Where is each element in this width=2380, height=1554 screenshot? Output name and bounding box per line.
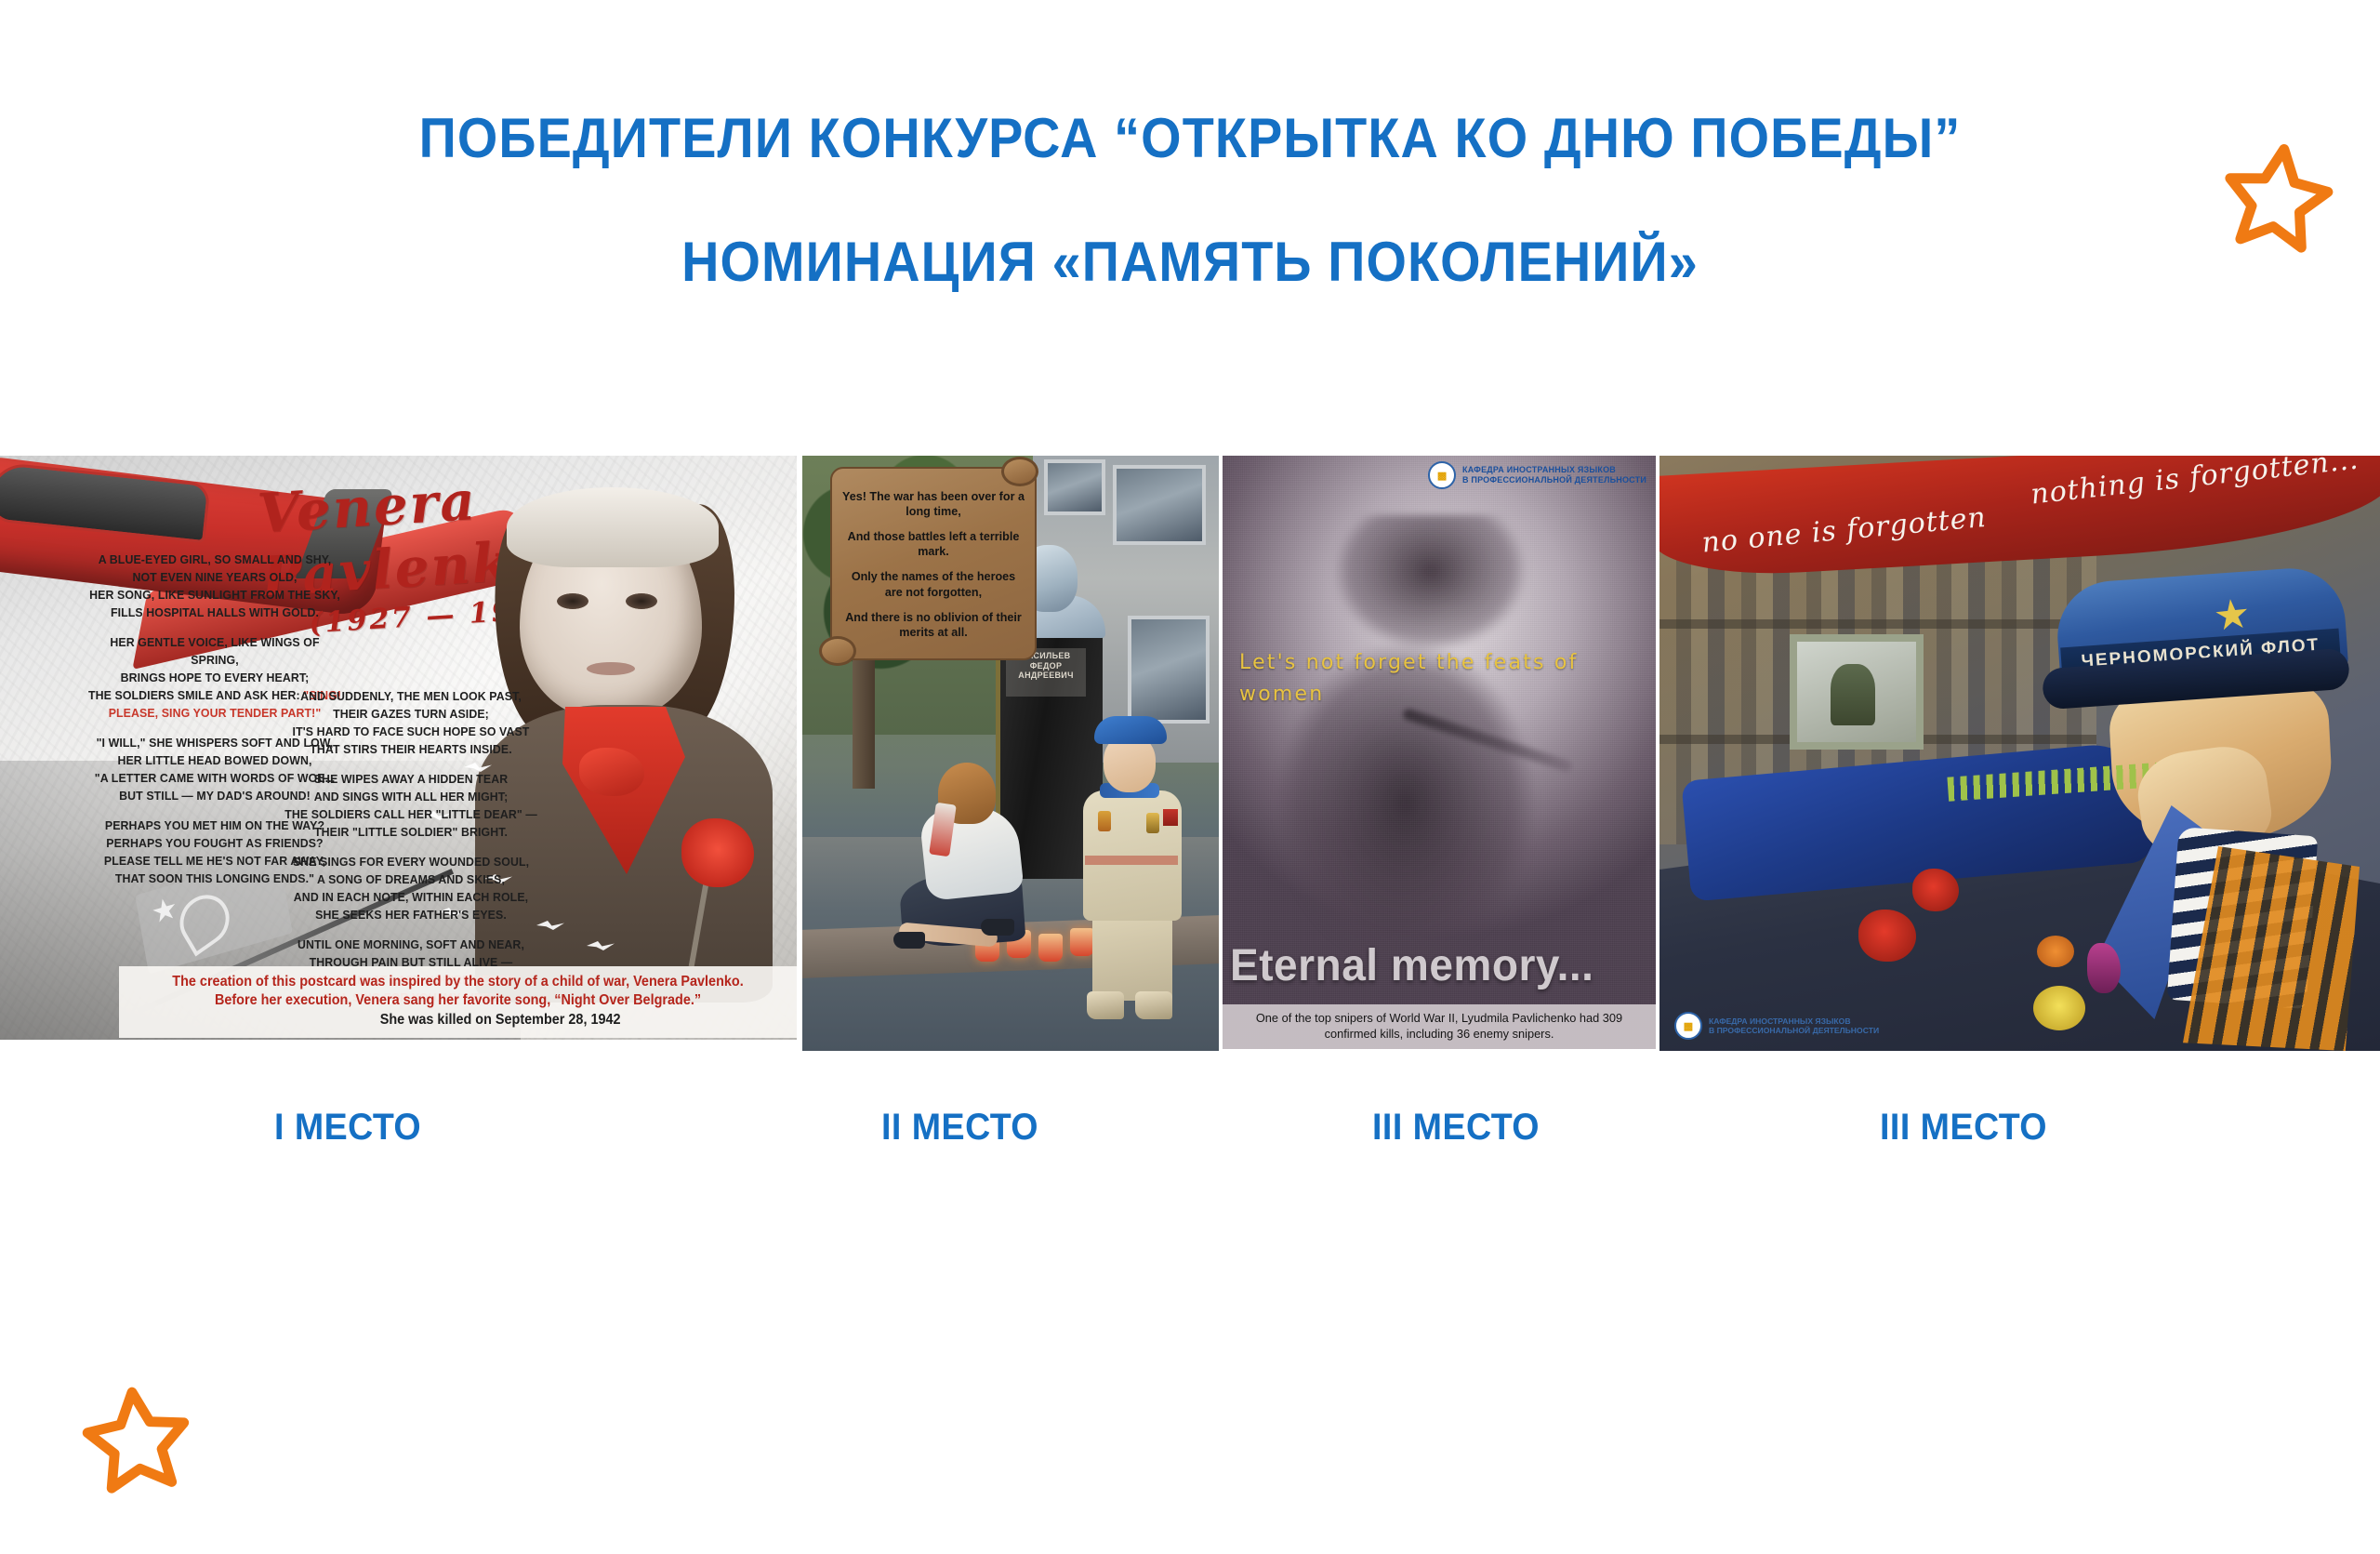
logo-line-1: КАФЕДРА ИНОСТРАННЫХ ЯЗЫКОВ bbox=[1709, 1016, 1851, 1026]
logo-line-2: В ПРОФЕССИОНАЛЬНОЙ ДЕЯТЕЛЬНОСТИ bbox=[1462, 475, 1646, 485]
postcard-4[interactable]: no one is forgotten nothing is forgotten… bbox=[1659, 456, 2380, 1051]
winner-cards-strip: ★ Venera Pavlenko (1927 — 1942) bbox=[0, 456, 2380, 1051]
carnation-flower bbox=[1912, 869, 1959, 911]
bouquet bbox=[2020, 898, 2253, 1047]
poem-stanza: SHE SINGS FOR EVERY WOUNDED SOUL, A SONG… bbox=[279, 854, 544, 924]
fl-logo-icon: ▩ bbox=[1674, 1012, 1702, 1040]
place-label-1: I МЕСТО bbox=[274, 1107, 421, 1149]
logo-line-1: КАФЕДРА ИНОСТРАННЫХ ЯЗЫКОВ bbox=[1462, 465, 1616, 474]
title-line-1: ПОБЕДИТЕЛИ КОНКУРСА “ОТКРЫТКА КО ДНЮ ПОБ… bbox=[84, 110, 2297, 166]
logo-line-2: В ПРОФЕССИОНАЛЬНОЙ ДЕЯТЕЛЬНОСТИ bbox=[1709, 1026, 1879, 1035]
fl-logo-icon: ▩ bbox=[1428, 461, 1456, 489]
poem-stanza: A BLUE-EYED GIRL, SO SMALL AND SHY, NOT … bbox=[86, 551, 343, 622]
framed-photo bbox=[1790, 634, 1924, 750]
scroll-line: And there is no oblivion of their merits… bbox=[841, 610, 1025, 640]
poem-stanza: SHE WIPES AWAY A HIDDEN TEAR AND SINGS W… bbox=[279, 771, 544, 842]
card2-scroll-text: Yes! The war has been over for a long ti… bbox=[830, 467, 1037, 660]
scroll-line: Yes! The war has been over for a long ti… bbox=[841, 489, 1025, 519]
cadet-boy-illustration bbox=[1078, 716, 1189, 1023]
card3-handwritten-text: Let's not forget the feats of women bbox=[1239, 647, 1593, 711]
card1-caption: The creation of this postcard was inspir… bbox=[119, 966, 797, 1038]
place-label-3: III МЕСТО bbox=[1372, 1107, 1540, 1149]
department-logo: ▩ КАФЕДРА ИНОСТРАННЫХ ЯЗЫКОВ В ПРОФЕССИО… bbox=[1428, 461, 1646, 489]
banner-text-left: no one is forgotten bbox=[1700, 501, 1988, 560]
postcard-2[interactable]: ВАСИЛЬЕВ ФЕДОР АНДРЕЕВИЧ bbox=[802, 456, 1219, 1051]
title-line-2: НОМИНАЦИЯ «ПАМЯТЬ ПОКОЛЕНИЙ» bbox=[84, 233, 2297, 290]
postcard-1[interactable]: ★ Venera Pavlenko (1927 — 1942) bbox=[0, 456, 797, 1040]
place-labels: I МЕСТО II МЕСТО III МЕСТО III МЕСТО bbox=[0, 1107, 2380, 1190]
star-icon bbox=[76, 1377, 196, 1496]
place-label-2: II МЕСТО bbox=[881, 1107, 1038, 1149]
department-logo: ▩ КАФЕДРА ИНОСТРАННЫХ ЯЗЫКОВ В ПРОФЕССИО… bbox=[1674, 1012, 1879, 1040]
caption-red-text: The creation of this postcard was inspir… bbox=[152, 973, 764, 1011]
card3-subtitle: One of the top snipers of World War II, … bbox=[1223, 1004, 1656, 1049]
postcard-3[interactable]: ▩ КАФЕДРА ИНОСТРАННЫХ ЯЗЫКОВ В ПРОФЕССИО… bbox=[1223, 456, 1656, 1049]
caption-black-text: She was killed on September 28, 1942 bbox=[380, 1011, 621, 1029]
banner-text-right: nothing is forgotten... bbox=[2030, 456, 2360, 511]
cap-star-icon: ★ bbox=[2212, 593, 2253, 638]
kneeling-girl-illustration bbox=[899, 763, 1048, 963]
place-label-4: III МЕСТО bbox=[1880, 1107, 2047, 1149]
page-title: ПОБЕДИТЕЛИ КОНКУРСА “ОТКРЫТКА КО ДНЮ ПОБ… bbox=[0, 110, 2380, 290]
card3-headline: Eternal memory... bbox=[1230, 940, 1646, 991]
scroll-line: Only the names of the heroes are not for… bbox=[841, 569, 1025, 599]
scroll-line: And those battles left a terrible mark. bbox=[841, 529, 1025, 559]
carnation-flower bbox=[1858, 910, 1916, 962]
star-icon bbox=[2215, 132, 2340, 257]
poem-stanza: AND SUDDENLY, THE MEN LOOK PAST, THEIR G… bbox=[279, 688, 544, 759]
